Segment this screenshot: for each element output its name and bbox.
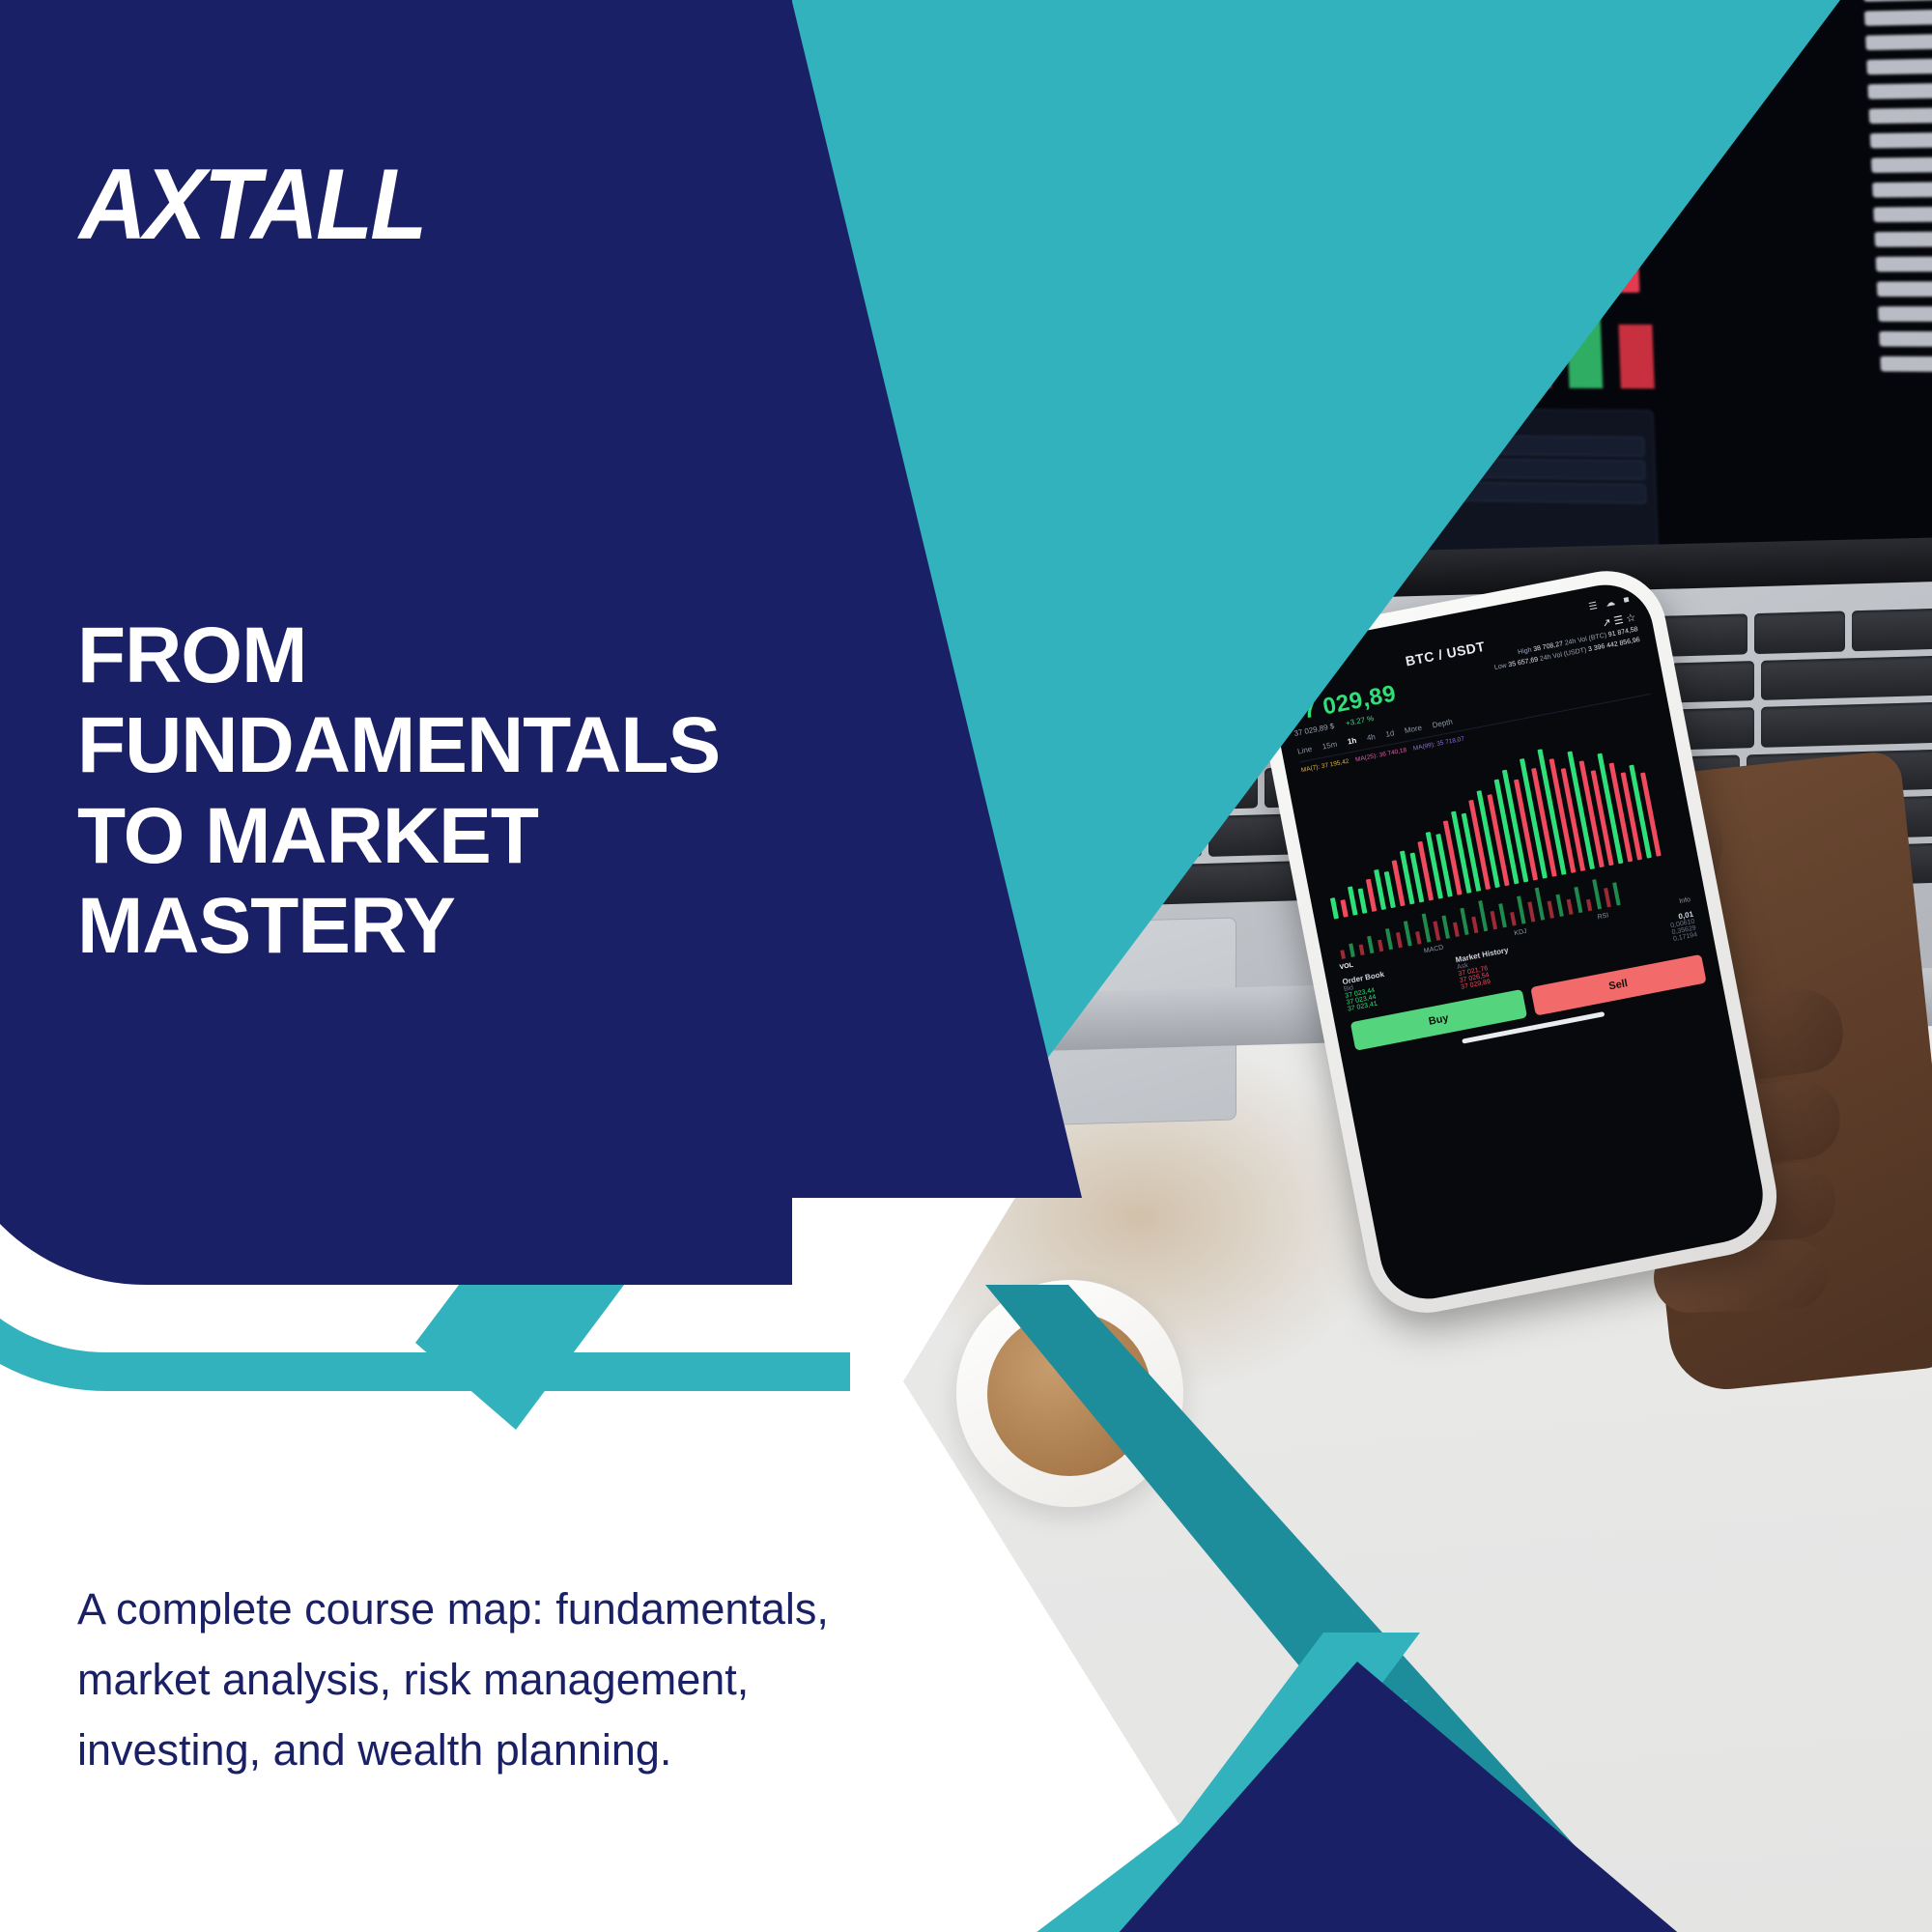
ticker-column-right-1 xyxy=(1861,0,1932,623)
stat-label-0: High xyxy=(1518,647,1532,657)
subtab-macd[interactable]: MACD xyxy=(1423,945,1444,955)
headline-line-3: TO MARKET xyxy=(77,791,753,881)
headline-line-4: MASTERY xyxy=(77,881,753,971)
subtab-rsi[interactable]: RSI xyxy=(1597,912,1609,921)
tab-1d[interactable]: 1d xyxy=(1385,728,1395,739)
tab-line[interactable]: Line xyxy=(1296,745,1313,756)
tab-4h[interactable]: 4h xyxy=(1366,732,1376,743)
page-title: FROM FUNDAMENTALS TO MARKET MASTERY xyxy=(77,611,753,972)
tab-more[interactable]: More xyxy=(1404,724,1423,735)
subtab-info[interactable]: Info xyxy=(1679,896,1691,905)
tab-1h[interactable]: 1h xyxy=(1347,736,1357,747)
brand-logo: AXTALL xyxy=(79,155,425,255)
body-copy: A complete course map: fundamentals, mar… xyxy=(77,1575,879,1786)
stat-value-2: 35 657,69 xyxy=(1508,657,1539,669)
stat-label-2: Low xyxy=(1493,663,1507,671)
headline-line-1: FROM xyxy=(77,611,753,700)
headline-line-2: FUNDAMENTALS xyxy=(77,700,753,790)
tab-15m[interactable]: 15m xyxy=(1321,740,1338,752)
subtab-kdj[interactable]: KDJ xyxy=(1514,928,1527,937)
subtab-vol[interactable]: VOL xyxy=(1339,962,1353,972)
poster-canvas: Plus/Funds+1,2845 Profit36 811 Bal.3 087… xyxy=(0,0,1932,1932)
phone-status-icons: ☰ ☁ ■ xyxy=(1588,593,1634,611)
tab-depth[interactable]: Depth xyxy=(1432,718,1454,730)
